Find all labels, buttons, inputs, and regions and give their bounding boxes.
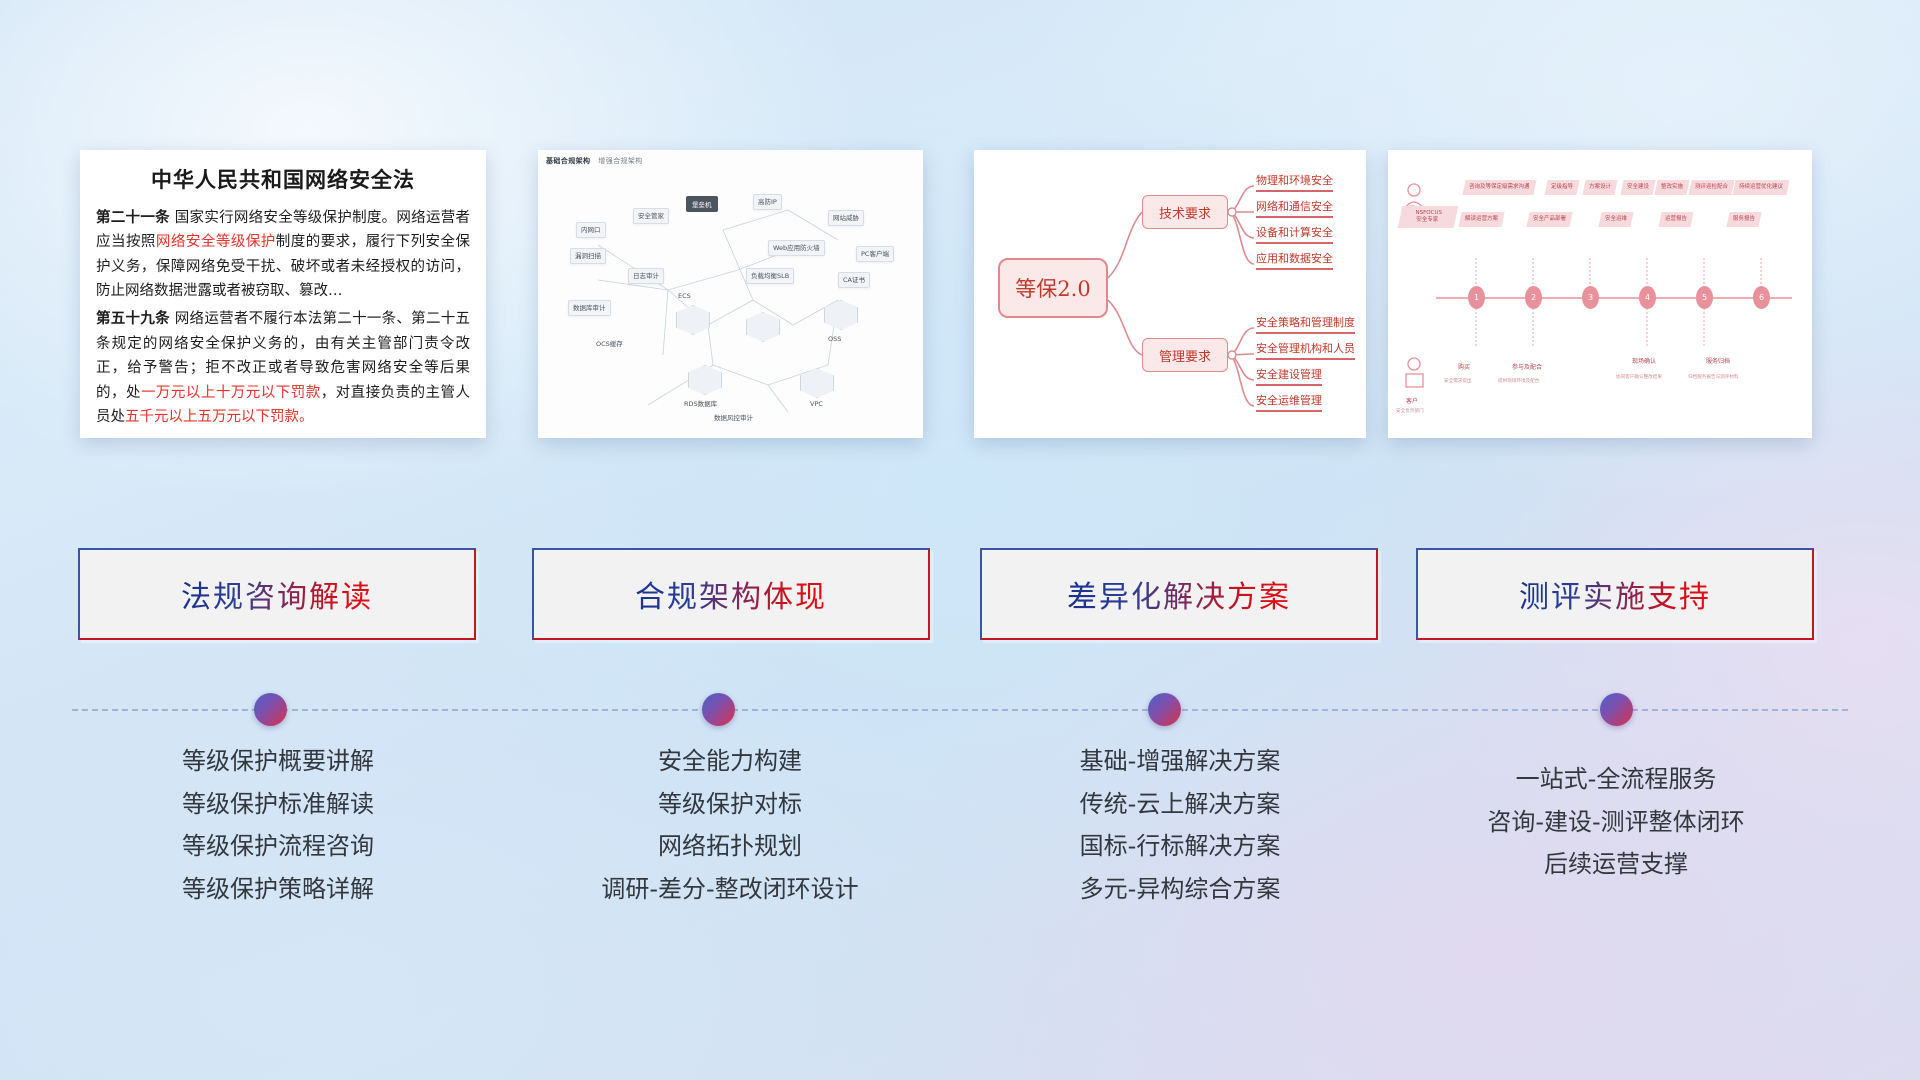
arch-hex-label: RDS数据库 <box>684 398 717 408</box>
arch-node: 日志审计 <box>628 268 664 284</box>
section-items-4: 一站式-全流程服务 咨询-建设-测评整体闭环 后续运营支撑 <box>1416 758 1816 886</box>
flow-bottom-tag: 现场确认 <box>1632 356 1656 365</box>
mindmap-leaf: 安全策略和管理制度 <box>1256 314 1355 334</box>
expert-role: 安全专家 <box>1404 217 1450 224</box>
section-item: 安全能力构建 <box>530 740 930 783</box>
flow-mid-tag-label: 安全运维 <box>1605 216 1627 223</box>
flow-top-tag: 安全建设 <box>1620 180 1655 195</box>
flow-top-tag-label: 咨询及等保定级需求沟通 <box>1469 184 1530 191</box>
arch-node: CA证书 <box>838 272 870 288</box>
section-title-box-4[interactable]: 测评实施支持 <box>1416 548 1814 640</box>
arch-node: 内网口 <box>576 222 606 238</box>
customer-sublabel: 安全负责部门 <box>1396 408 1424 414</box>
flow-top-tag: 整改实施 <box>1654 180 1689 195</box>
law-run-highlight: 五千元以上五万元以下罚款。 <box>125 409 314 425</box>
flow-mid-tag-label: 运营报告 <box>1665 216 1687 223</box>
timeline-dot-3[interactable] <box>1148 693 1181 726</box>
flow-step-number: 6 <box>1753 286 1770 309</box>
law-paragraph: 第五十九条 网络运营者不履行本法第二十一条、第二十五条规定的网络安全保护义务的，… <box>96 307 470 429</box>
flow-mid-tag-label: 服务报告 <box>1733 216 1755 223</box>
arch-hex-label: VPC <box>810 400 823 408</box>
arch-node: 高防IP <box>753 194 782 210</box>
law-article-number: 第二十一条 <box>96 210 170 226</box>
law-title: 中华人民共和国网络安全法 <box>96 164 470 194</box>
timeline-dot-2[interactable] <box>702 693 735 726</box>
flow-step-number: 2 <box>1525 286 1542 309</box>
flow-mid-tag: 运营报告 <box>1658 212 1693 227</box>
section-title-label: 合规架构体现 <box>635 572 827 616</box>
law-run-highlight: 网络安全等级保护 <box>156 234 276 250</box>
mindmap-leaf: 安全运维管理 <box>1256 392 1322 412</box>
flow-top-tag-label: 测评迎检配合 <box>1695 184 1728 191</box>
section-item: 传统-云上解决方案 <box>980 783 1380 826</box>
section-title-label: 法规咨询解读 <box>181 572 373 616</box>
arch-node: 数据库审计 <box>568 300 611 316</box>
flow-step-number: 4 <box>1639 286 1656 309</box>
arch-hex-label: OSS <box>828 335 841 343</box>
section-item: 等级保护概要讲解 <box>80 740 476 783</box>
section-item: 后续运营支撑 <box>1416 843 1816 886</box>
section-item: 等级保护对标 <box>530 783 930 826</box>
flow-mid-tag: 服务报告 <box>1726 212 1761 227</box>
section-title-label: 测评实施支持 <box>1519 572 1711 616</box>
flow-top-tag-label: 定级指导 <box>1551 184 1573 191</box>
flow-step-number: 5 <box>1696 286 1713 309</box>
flow-top-tag: 定级指导 <box>1544 180 1579 195</box>
flow-top-tag-label: 整改实施 <box>1661 184 1683 191</box>
section-item: 等级保护流程咨询 <box>80 825 476 868</box>
arch-hex-label: 数据风控审计 <box>714 412 753 422</box>
flow-top-tag: 方案设计 <box>1582 180 1617 195</box>
flow-step-number: 1 <box>1468 286 1485 309</box>
section-titles-row: 法规咨询解读 合规架构体现 差异化解决方案 测评实施支持 <box>0 548 1920 648</box>
arch-node-bastion: 堡垒机 <box>686 196 718 212</box>
flow-top-tag-label: 安全建设 <box>1627 184 1649 191</box>
architecture-diagram: 基础合规架构 增强合规架构 <box>538 150 923 438</box>
flow-mid-tag: 安全产品部署 <box>1526 212 1572 227</box>
section-title-box-1[interactable]: 法规咨询解读 <box>78 548 476 640</box>
timeline-dashed-line <box>72 709 1848 711</box>
mindmap-branch-management: 管理要求 <box>1142 338 1228 372</box>
expert-tag: NSFOCUS 安全专家 <box>1398 206 1459 228</box>
arch-node: 负载均衡SLB <box>746 268 794 284</box>
flow-bottom-sub: 协同客户确认整改结果 <box>1616 374 1662 380</box>
architecture-connectors <box>538 150 923 438</box>
flow-bottom-tag: 参与及配合 <box>1512 362 1542 371</box>
flow-bottom-tag: 购买 <box>1458 362 1470 371</box>
flow-mid-tag-label: 安全产品部署 <box>1533 216 1566 223</box>
card-cloud-architecture[interactable]: 基础合规架构 增强合规架构 <box>538 150 923 438</box>
flow-step-number: 3 <box>1582 286 1599 309</box>
section-items-row: 等级保护概要讲解 等级保护标准解读 等级保护流程咨询 等级保护策略详解 安全能力… <box>0 740 1920 1000</box>
law-run-highlight: 一万元以上十万元以下罚款 <box>141 385 321 401</box>
timeline-dot-4[interactable] <box>1600 693 1633 726</box>
law-document: 中华人民共和国网络安全法 第二十一条 国家实行网络安全等级保护制度。网络运营者应… <box>80 150 486 437</box>
mindmap-leaf: 应用和数据安全 <box>1256 250 1333 270</box>
flow-mid-tag-label: 解读运营方案 <box>1465 216 1498 223</box>
section-items-1: 等级保护概要讲解 等级保护标准解读 等级保护流程咨询 等级保护策略详解 <box>80 740 476 911</box>
section-items-3: 基础-增强解决方案 传统-云上解决方案 国标-行标解决方案 多元-异构综合方案 <box>980 740 1380 911</box>
arch-node: PC客户端 <box>856 246 894 262</box>
flow-top-tag-label: 持续运营优化建议 <box>1739 184 1783 191</box>
flow-top-tag-label: 方案设计 <box>1589 184 1611 191</box>
arch-node: 网站威胁 <box>828 210 864 226</box>
timeline <box>0 690 1920 730</box>
mindmap-leaf: 安全管理机构和人员 <box>1256 340 1355 360</box>
flow-mid-tag: 解读运营方案 <box>1458 212 1504 227</box>
card-cybersecurity-law[interactable]: 中华人民共和国网络安全法 第二十一条 国家实行网络安全等级保护制度。网络运营者应… <box>80 150 486 438</box>
section-item: 一站式-全流程服务 <box>1416 758 1816 801</box>
arch-node: Web应用防火墙 <box>768 240 825 256</box>
law-paragraph: 第二十一条 国家实行网络安全等级保护制度。网络运营者应当按照网络安全等级保护制度… <box>96 206 470 303</box>
flow-bottom-sub: 归档服务报告与测评材料 <box>1688 374 1739 380</box>
mindmap: 等保2.0 技术要求 管理要求 物理和环境安全 网络和通信安全 设备和计算安全 … <box>974 150 1366 438</box>
flow-bottom-sub: 提供现场环境及配合 <box>1498 378 1539 384</box>
flow-top-tag: 测评迎检配合 <box>1688 180 1734 195</box>
section-item: 咨询-建设-测评整体闭环 <box>1416 801 1816 844</box>
customer-label: 客户 <box>1406 396 1418 405</box>
section-item: 等级保护策略详解 <box>80 868 476 911</box>
timeline-dot-1[interactable] <box>254 693 287 726</box>
arch-hex-label: OCS缓存 <box>596 338 623 348</box>
card-dengbao-mindmap[interactable]: 等保2.0 技术要求 管理要求 物理和环境安全 网络和通信安全 设备和计算安全 … <box>974 150 1366 438</box>
section-title-label: 差异化解决方案 <box>1067 572 1291 616</box>
flow-bottom-tag: 服务归档 <box>1706 356 1730 365</box>
section-items-2: 安全能力构建 等级保护对标 网络拓扑规划 调研-差分-整改闭环设计 <box>530 740 930 911</box>
flow-top-tag: 咨询及等保定级需求沟通 <box>1462 180 1536 195</box>
section-item: 网络拓扑规划 <box>530 825 930 868</box>
section-item: 多元-异构综合方案 <box>980 868 1380 911</box>
mindmap-root-node: 等保2.0 <box>998 258 1108 318</box>
law-article-number: 第五十九条 <box>96 311 170 327</box>
flow-bottom-sub: 安全需求提出 <box>1444 378 1472 384</box>
arch-hex-label: ECS <box>678 292 691 300</box>
section-item: 等级保护标准解读 <box>80 783 476 826</box>
mindmap-branch-technical: 技术要求 <box>1142 195 1228 229</box>
section-item: 国标-行标解决方案 <box>980 825 1380 868</box>
mindmap-leaf: 安全建设管理 <box>1256 366 1322 386</box>
service-flow-diagram: NSFOCUS 安全专家 咨询及等保定级需求沟通 定级指导 方案设计 安全建设 … <box>1388 150 1812 438</box>
section-title-box-3[interactable]: 差异化解决方案 <box>980 548 1378 640</box>
section-item: 调研-差分-整改闭环设计 <box>530 868 930 911</box>
mindmap-leaf: 物理和环境安全 <box>1256 172 1333 192</box>
mindmap-leaf: 网络和通信安全 <box>1256 198 1333 218</box>
arch-node: 漏洞扫描 <box>570 248 606 264</box>
arch-node: 安全管家 <box>633 208 669 224</box>
card-nsfocus-service-flow[interactable]: NSFOCUS 安全专家 咨询及等保定级需求沟通 定级指导 方案设计 安全建设 … <box>1388 150 1812 438</box>
section-title-box-2[interactable]: 合规架构体现 <box>532 548 930 640</box>
mindmap-leaf: 设备和计算安全 <box>1256 224 1333 244</box>
reference-cards-row: 中华人民共和国网络安全法 第二十一条 国家实行网络安全等级保护制度。网络运营者应… <box>0 150 1920 450</box>
section-item: 基础-增强解决方案 <box>980 740 1380 783</box>
flow-top-tag: 持续运营优化建议 <box>1732 180 1789 195</box>
flow-mid-tag: 安全运维 <box>1598 212 1633 227</box>
